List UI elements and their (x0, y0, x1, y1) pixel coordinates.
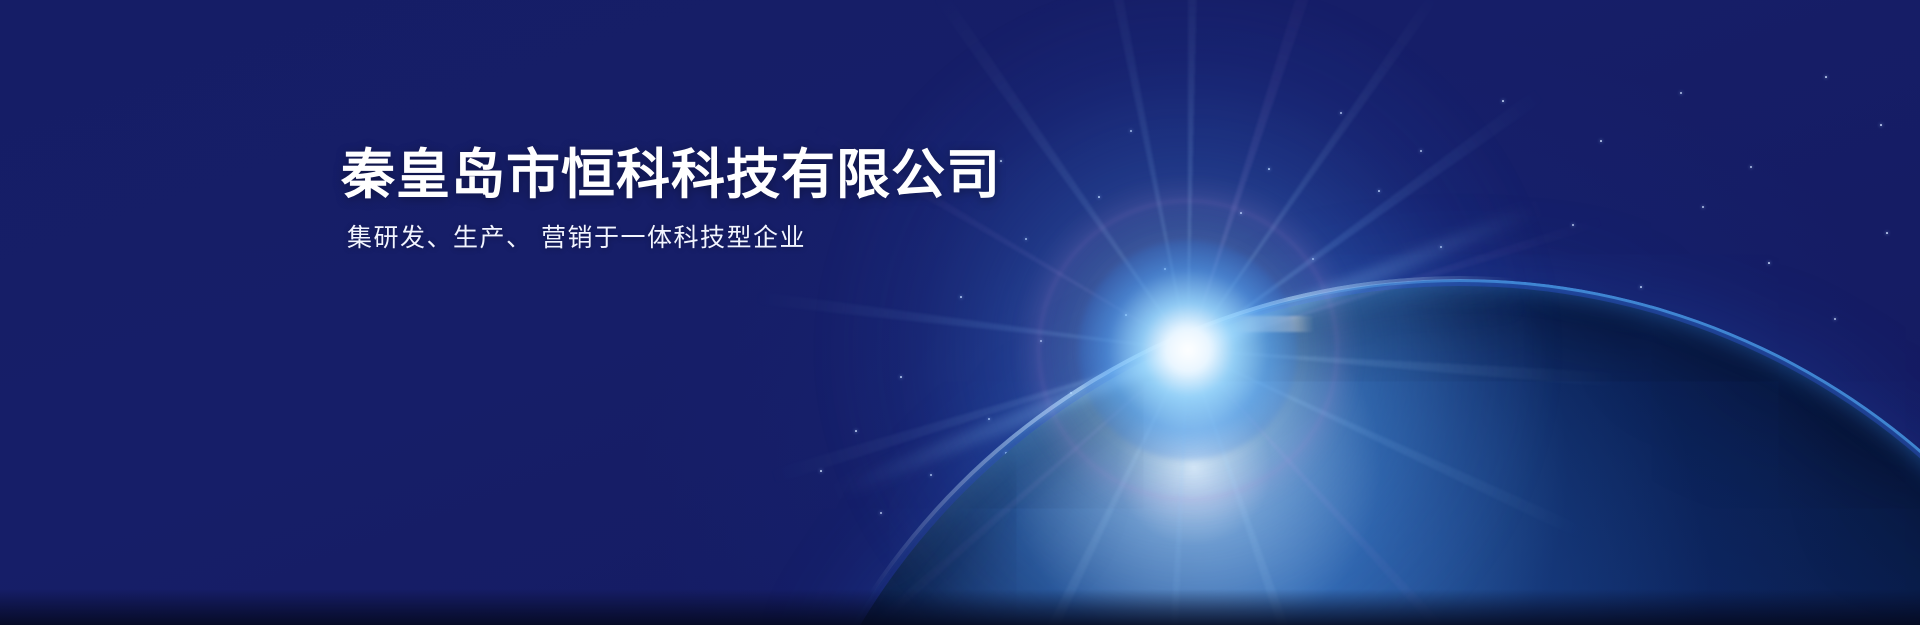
company-title: 秦皇岛市恒科科技有限公司 (341, 146, 1101, 204)
company-tagline: 集研发、生产、 营销于一体科技型企业 (347, 222, 1101, 255)
sunrise-core (1078, 240, 1298, 460)
hero-banner: 秦皇岛市恒科科技有限公司 集研发、生产、 营销于一体科技型企业 (0, 0, 1920, 625)
bottom-vignette (0, 589, 1920, 625)
hero-text-block: 秦皇岛市恒科科技有限公司 集研发、生产、 营销于一体科技型企业 (341, 146, 1101, 255)
